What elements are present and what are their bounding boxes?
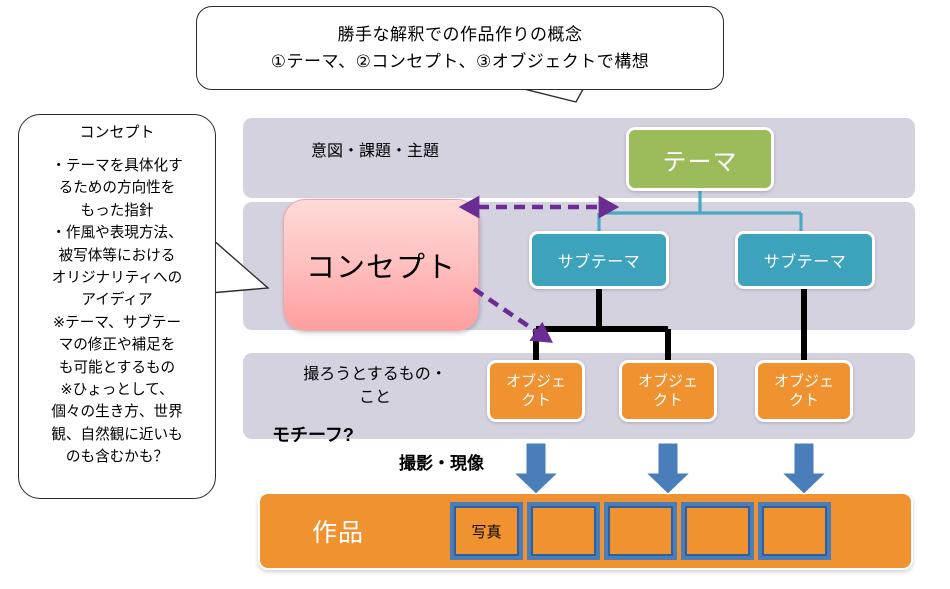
node-object-3-line2: クト: [774, 391, 834, 410]
left-callout-line-5: 被写体等における: [27, 245, 207, 267]
photo-frame-2[interactable]: [527, 502, 600, 560]
band-object-label-line1: 撮ろうとするもの・: [270, 363, 480, 386]
diagram-canvas: 意図・課題・主題 撮ろうとするもの・ こと テーマ サブテーマ サブテーマ オブ…: [0, 0, 950, 589]
photo-frame-5[interactable]: [758, 502, 831, 560]
photo-frame-4[interactable]: [681, 502, 754, 560]
band-object-label-line2: こと: [270, 386, 480, 409]
top-callout-line-1: 勝手な解釈での作品作りの概念: [338, 21, 583, 48]
node-subtheme-2[interactable]: サブテーマ: [735, 231, 875, 289]
photo-frame-1-label: 写真: [454, 506, 519, 556]
node-object-1[interactable]: オブジェ クト: [487, 360, 585, 422]
node-object-1-line2: クト: [506, 391, 566, 410]
top-callout-line-2: ①テーマ、②コンセプト、③オブジェクトで構想: [271, 48, 650, 75]
left-callout-line-2: るための方向性を: [27, 177, 207, 199]
photo-frame-3-label: [608, 506, 673, 556]
node-object-3-line1: オブジェ: [774, 372, 834, 391]
node-theme[interactable]: テーマ: [626, 127, 774, 191]
annotation-develop: 撮影・現像: [399, 449, 484, 474]
arrow-shoot-2: [646, 443, 690, 494]
photo-frame-3[interactable]: [604, 502, 677, 560]
left-callout-line-10: も可能とするもの: [27, 357, 207, 379]
photo-frame-5-label: [762, 506, 827, 556]
top-callout: 勝手な解釈での作品作りの概念 ①テーマ、②コンセプト、③オブジェクトで構想: [196, 6, 724, 90]
photo-frame-1[interactable]: 写真: [450, 502, 523, 560]
left-callout-line-7: アイディア: [27, 289, 207, 311]
left-callout-line-13: 観、自然観に近いも: [27, 424, 207, 446]
left-callout-line-8: ※テーマ、サブテー: [27, 312, 207, 334]
band-intent-label: 意図・課題・主題: [270, 140, 480, 163]
left-callout-line-6: オリジナリティへの: [27, 267, 207, 289]
annotation-motif: モチーフ?: [272, 421, 354, 447]
node-object-2-line2: クト: [638, 391, 698, 410]
node-object-1-line1: オブジェ: [506, 372, 566, 391]
left-callout-line-11: ※ひょっとして、: [27, 379, 207, 401]
arrow-shoot-1: [514, 443, 558, 494]
left-callout: コンセプト ・テーマを具体化す るための方向性を もった指針 ・作風や表現方法、…: [18, 114, 216, 499]
arrow-shoot-3: [782, 443, 826, 494]
photo-frame-4-label: [685, 506, 750, 556]
left-callout-line-1: ・テーマを具体化す: [27, 155, 207, 177]
node-subtheme-1[interactable]: サブテーマ: [529, 231, 669, 289]
left-callout-body: ・テーマを具体化す るための方向性を もった指針 ・作風や表現方法、 被写体等に…: [27, 155, 207, 469]
left-callout-line-4: ・作風や表現方法、: [27, 222, 207, 244]
left-callout-line-3: もった指針: [27, 200, 207, 222]
node-object-2-line1: オブジェ: [638, 372, 698, 391]
work-bar-label: 作品: [312, 513, 364, 549]
left-callout-line-14: のも含むかも？: [27, 446, 207, 468]
left-callout-title: コンセプト: [27, 121, 207, 145]
node-object-2[interactable]: オブジェ クト: [619, 360, 717, 422]
band-object-label: 撮ろうとするもの・ こと: [270, 363, 480, 409]
photo-frame-2-label: [531, 506, 596, 556]
left-callout-line-9: マの修正や補足を: [27, 334, 207, 356]
node-object-3[interactable]: オブジェ クト: [755, 360, 853, 422]
left-callout-line-12: 個々の生き方、世界: [27, 401, 207, 423]
